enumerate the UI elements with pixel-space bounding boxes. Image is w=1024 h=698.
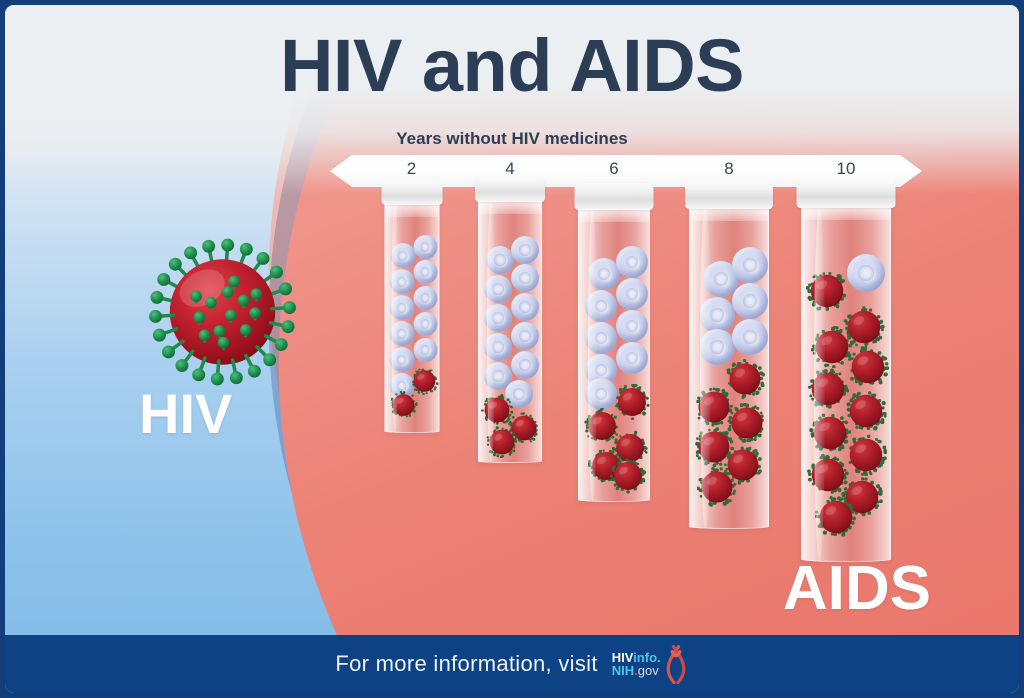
logo-wordmark: HIVinfo. NIH.gov [612, 651, 661, 678]
tube-highlight [700, 205, 710, 529]
logo-line-2: NIH.gov [612, 664, 661, 677]
cd4-cell [511, 264, 539, 292]
tube-cap [575, 183, 654, 210]
logo-nih-text: NIH [612, 663, 634, 678]
cd4-cell [511, 236, 539, 264]
hiv-virion [806, 270, 848, 312]
cd4-cell [732, 283, 768, 319]
tube-highlight [392, 201, 399, 433]
test-tube-year-6 [578, 183, 650, 506]
cd4-cell [413, 235, 437, 259]
cd4-cell [732, 319, 768, 355]
hiv-virion [845, 434, 887, 476]
test-tube-year-8 [689, 181, 769, 533]
cd4-cell [616, 246, 648, 278]
tube-body [478, 198, 542, 463]
hiv-virion [610, 458, 646, 494]
tube-cap [381, 181, 442, 205]
cd4-cell [413, 260, 437, 284]
tube-body [384, 201, 439, 433]
hivinfo-nih-logo[interactable]: HIVinfo. NIH.gov [612, 644, 689, 684]
tube-body [689, 205, 769, 529]
footer-text: For more information, visit [335, 651, 597, 677]
cd4-cell [413, 312, 437, 336]
footer-bar: For more information, visit HIVinfo. NIH… [5, 635, 1019, 693]
cd4-cell [732, 247, 768, 283]
test-tube-year-10 [801, 179, 891, 566]
tube-cap [685, 181, 773, 209]
aids-ribbon-icon [663, 644, 689, 684]
cd4-cell [616, 278, 648, 310]
cd4-cell [413, 286, 437, 310]
cd4-cell [511, 322, 539, 350]
tube-body [578, 206, 650, 502]
tube-cap [475, 177, 545, 202]
tube-body [801, 204, 891, 562]
cd4-cell [413, 338, 437, 362]
poster: HIV and AIDS Years without HIV medicines… [0, 0, 1024, 698]
test-tube-year-4 [478, 177, 542, 467]
tube-cap [797, 179, 896, 208]
cd4-cell [511, 351, 539, 379]
tube-highlight [814, 204, 826, 562]
hiv-virion [847, 346, 889, 388]
poster-canvas: HIV and AIDS Years without HIV medicines… [5, 5, 1019, 693]
logo-line-1: HIVinfo. [612, 651, 661, 664]
aids-stage-label: AIDS [783, 553, 931, 624]
hiv-virion [845, 390, 887, 432]
cd4-cell [511, 293, 539, 321]
test-tube-year-2 [384, 181, 439, 437]
cd4-cell [616, 342, 648, 374]
cd4-cell [847, 254, 885, 292]
cd4-cell [616, 310, 648, 342]
logo-gov-text: gov [638, 663, 659, 678]
